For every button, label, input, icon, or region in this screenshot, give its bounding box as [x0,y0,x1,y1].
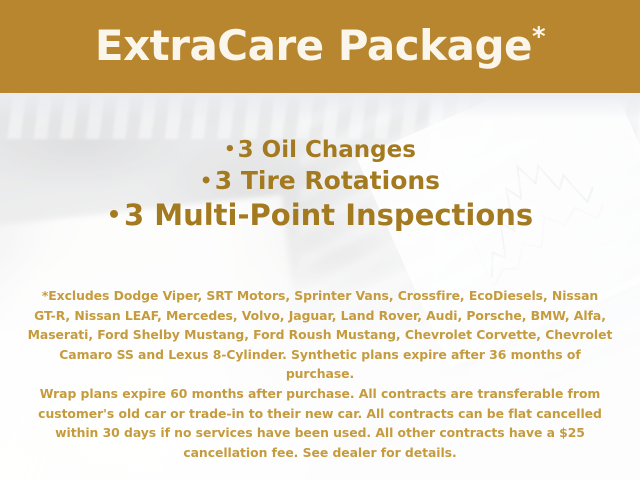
page-title: ExtraCare Package* [95,25,545,67]
bullet-icon: • [224,139,235,160]
benefit-label: 3 Multi-Point Inspections [124,198,533,232]
benefit-item-multi-point-inspections: •3 Multi-Point Inspections [0,197,640,234]
bullet-icon: • [200,169,212,192]
disclaimer-fine-print: *Excludes Dodge Viper, SRT Motors, Sprin… [26,286,614,462]
benefit-item-tire-rotations: •3 Tire Rotations [0,165,640,197]
photo-top-fade [0,93,640,119]
fine-print-line: Camaro SS and Lexus 8-Cylinder. Syntheti… [26,345,614,384]
fine-print-line: *Excludes Dodge Viper, SRT Motors, Sprin… [26,286,614,306]
title-asterisk: * [532,22,545,52]
benefit-item-oil-changes: •3 Oil Changes [0,136,640,165]
header-banner: ExtraCare Package* [0,0,640,93]
bullet-icon: • [107,202,121,228]
fine-print-line: within 30 days if no services have been … [26,423,614,443]
benefit-label: 3 Oil Changes [238,137,416,163]
fine-print-line: GT-R, Nissan LEAF, Mercedes, Volvo, Jagu… [26,306,614,326]
extracare-package-ad: ExtraCare Package* •3 Oil Changes •3 Tir… [0,0,640,480]
fine-print-line: customer's old car or trade-in to their … [26,404,614,424]
benefits-list: •3 Oil Changes •3 Tire Rotations •3 Mult… [0,136,640,235]
page-title-text: ExtraCare Package [95,21,532,70]
fine-print-line: cancellation fee. See dealer for details… [26,443,614,463]
benefit-label: 3 Tire Rotations [215,166,440,195]
fine-print-line: Maserati, Ford Shelby Mustang, Ford Rous… [26,325,614,345]
fine-print-line: Wrap plans expire 60 months after purcha… [26,384,614,404]
